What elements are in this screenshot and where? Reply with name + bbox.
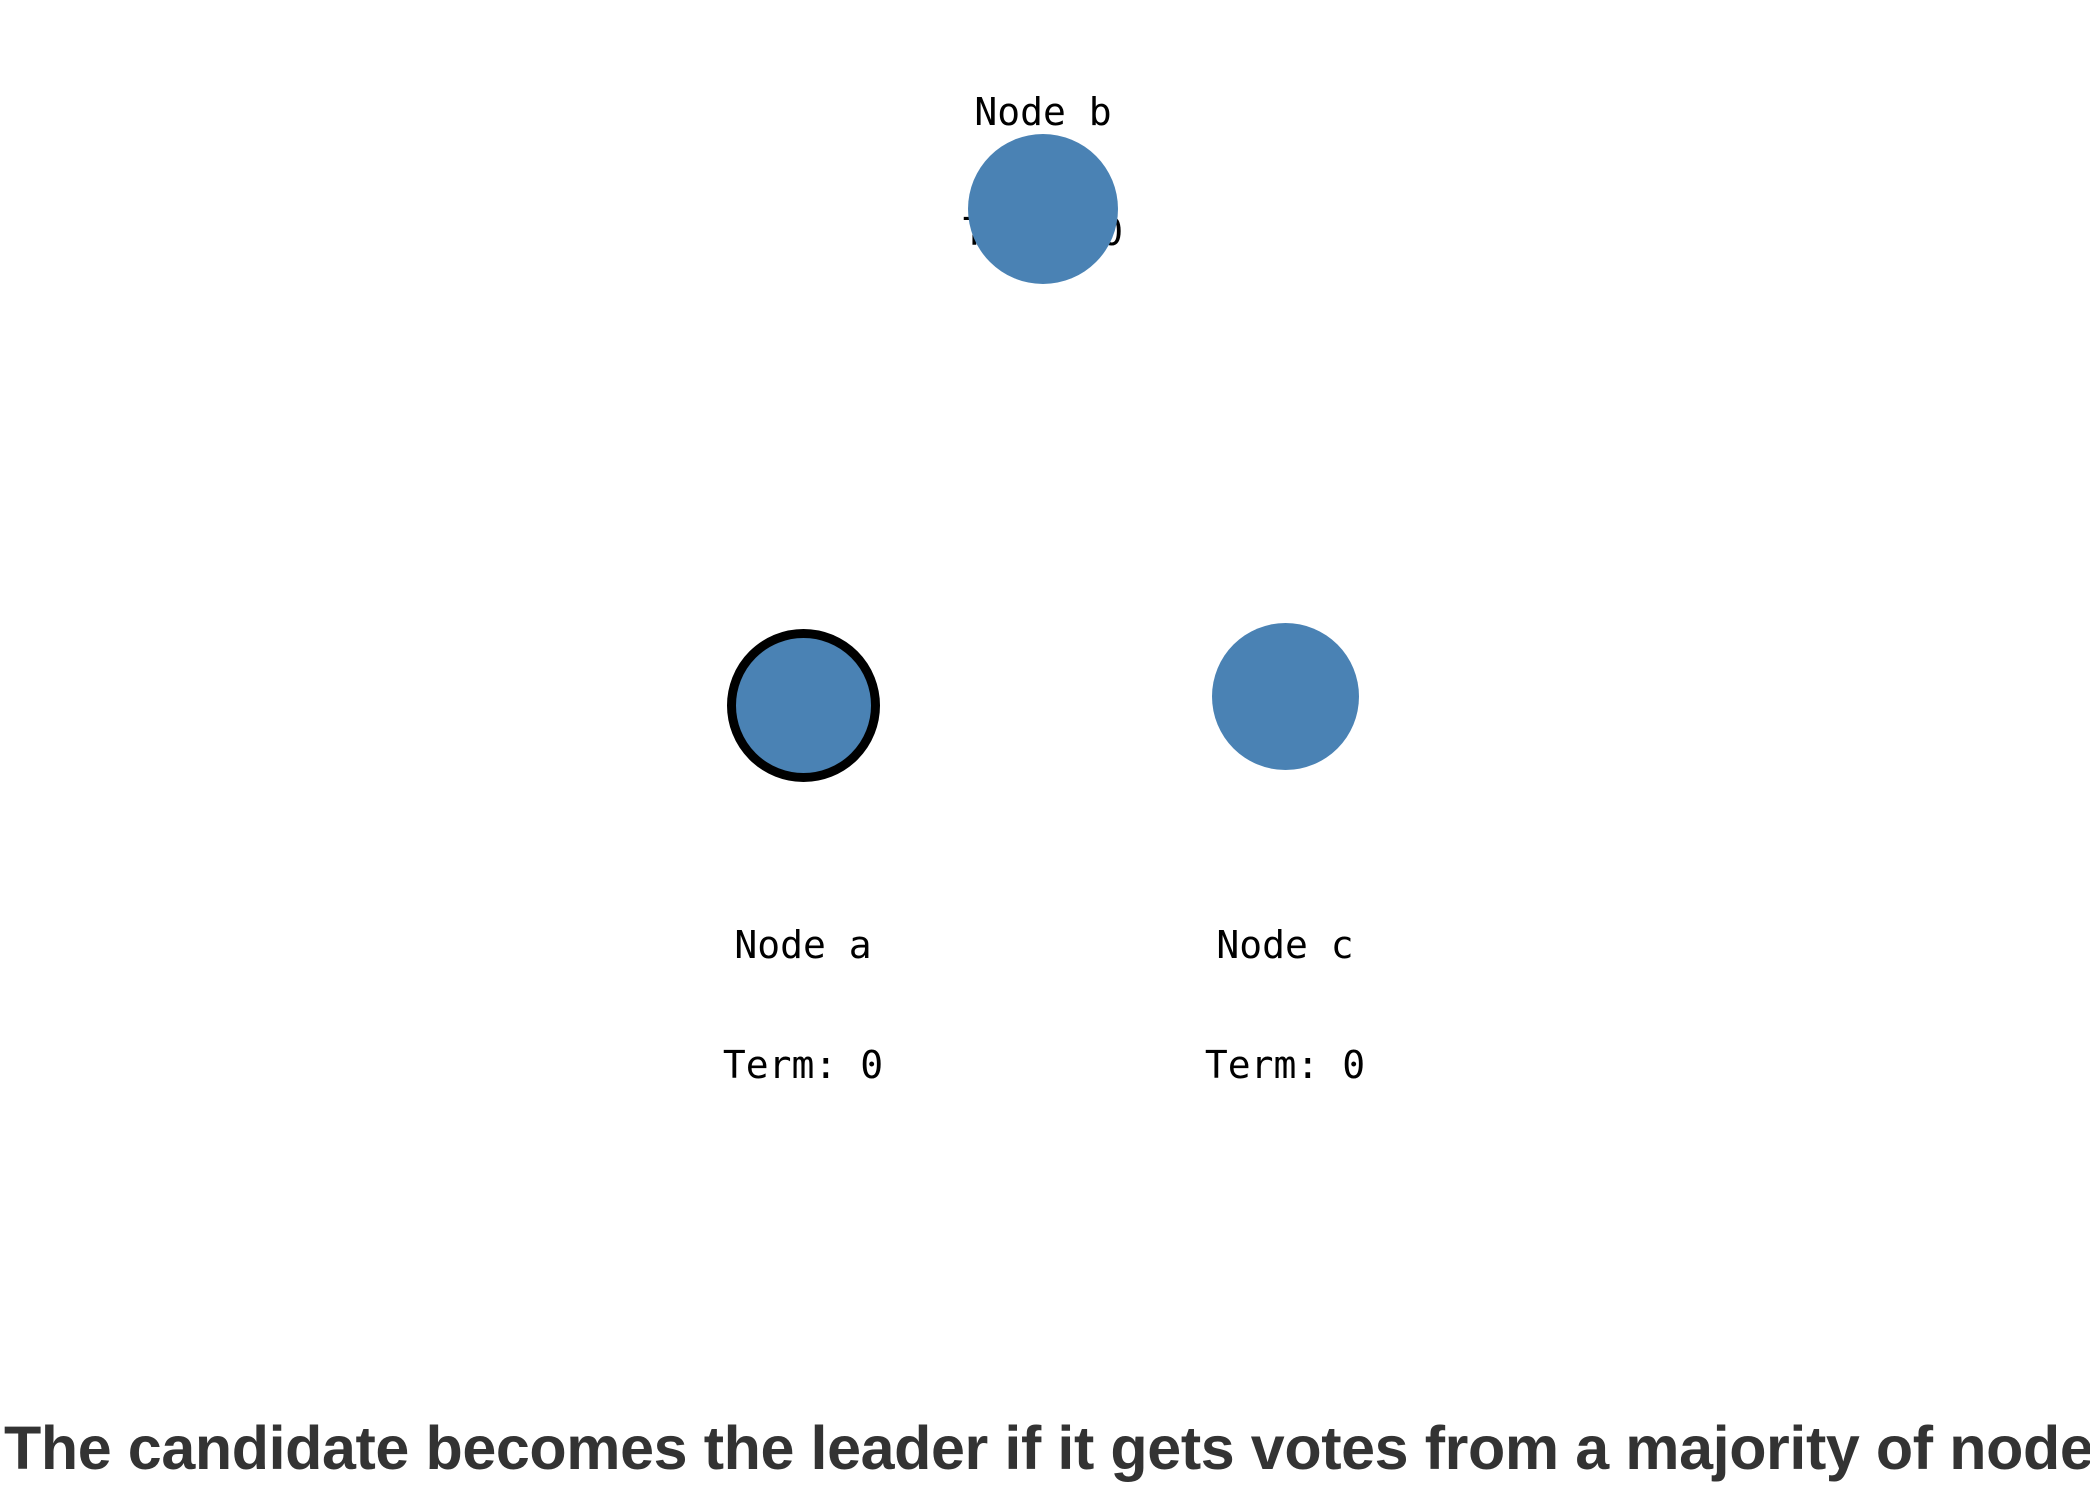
caption-text: The candidate becomes the leader if it g… — [4, 1410, 2086, 1486]
node-c-circle[interactable] — [1212, 623, 1359, 770]
diagram-canvas: Node b Term: 0 Node a Term: 0 Node c Ter… — [0, 0, 2090, 1490]
node-b-name: Node b — [743, 92, 1343, 132]
node-a-circle-highlighted[interactable] — [727, 629, 880, 782]
node-b-circle[interactable] — [968, 134, 1118, 284]
node-c-label: Node c Term: 0 — [985, 845, 1585, 1165]
node-c-name: Node c — [985, 925, 1585, 965]
node-c-term: Term: 0 — [985, 1045, 1585, 1085]
